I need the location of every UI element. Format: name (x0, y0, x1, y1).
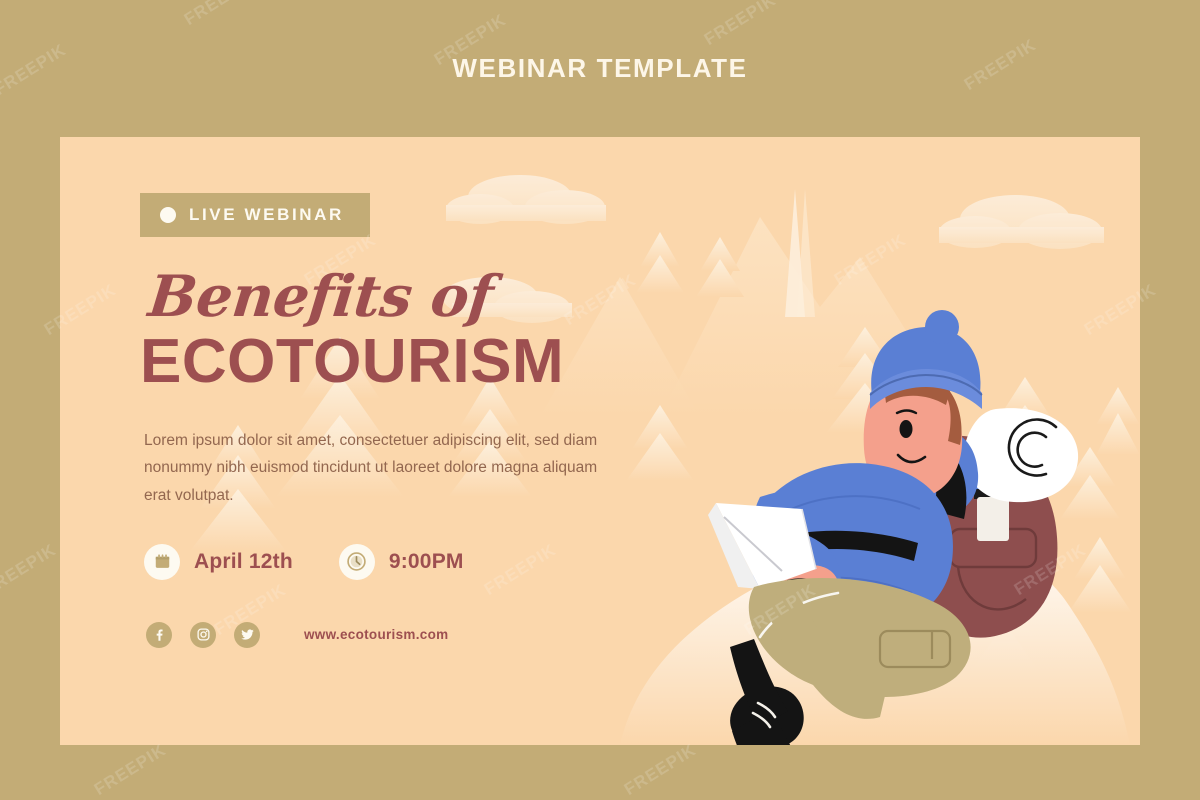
headline-main: ECOTOURISM (140, 331, 660, 393)
watermark-text: FREEPIK (0, 540, 60, 600)
page-background: WEBINAR TEMPLATE (0, 0, 1200, 800)
live-dot-icon (160, 207, 176, 223)
twitter-icon[interactable] (234, 622, 260, 648)
live-webinar-badge-label: LIVE WEBINAR (189, 205, 344, 225)
event-date-text: April 12th (194, 550, 293, 574)
watermark-text: FREEPIK (91, 740, 170, 800)
footer-row: www.ecotourism.com (146, 622, 660, 648)
card-content: LIVE WEBINAR Benefits of ECOTOURISM Lore… (140, 193, 660, 648)
webinar-card: LIVE WEBINAR Benefits of ECOTOURISM Lore… (60, 137, 1140, 745)
website-url[interactable]: www.ecotourism.com (304, 627, 448, 642)
facebook-icon[interactable] (146, 622, 172, 648)
clock-icon (339, 544, 375, 580)
headline-script: Benefits of (146, 269, 666, 325)
page-title: WEBINAR TEMPLATE (0, 0, 1200, 137)
event-meta-row: April 12th 9:00PM (144, 544, 660, 580)
event-time-text: 9:00PM (389, 550, 464, 574)
live-webinar-badge[interactable]: LIVE WEBINAR (140, 193, 370, 237)
page-title-text: WEBINAR TEMPLATE (452, 53, 747, 84)
watermark-text: FREEPIK (621, 740, 700, 800)
body-copy: Lorem ipsum dolor sit amet, consectetuer… (144, 427, 614, 510)
instagram-icon[interactable] (190, 622, 216, 648)
calendar-icon (144, 544, 180, 580)
event-date: April 12th (144, 544, 293, 580)
event-time: 9:00PM (339, 544, 464, 580)
